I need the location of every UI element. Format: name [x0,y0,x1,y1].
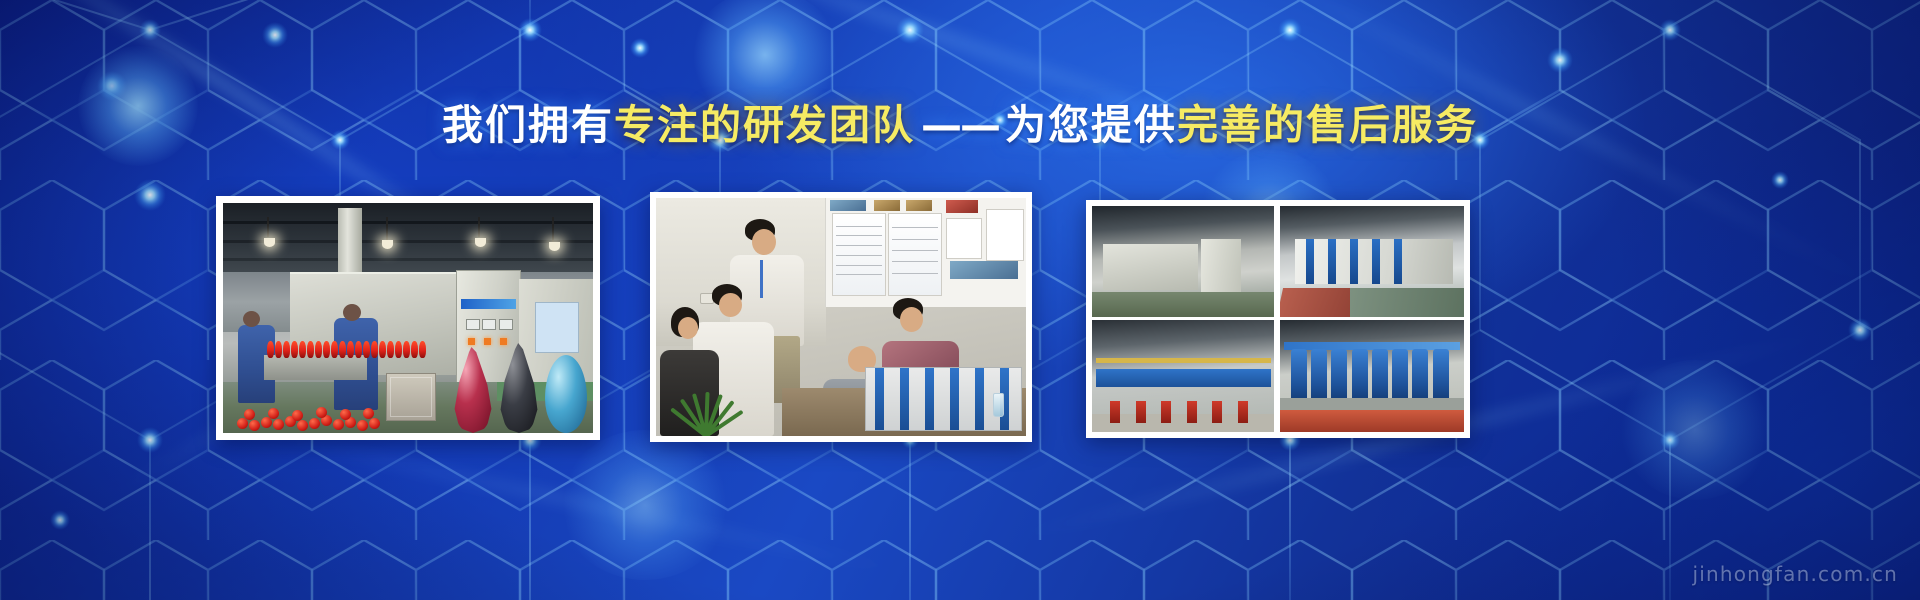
headline-segment-4: 完善的售后服务 [1177,101,1478,149]
collage-tile-drying-oven [1092,206,1274,317]
photo-team-meeting-image [656,198,1026,436]
promo-banner: 我们拥有专注的研发团队——为您提供完善的售后服务 [0,0,1920,600]
collage-tile-spray-booths [1280,206,1464,317]
photo-production-line-image [223,203,593,433]
page-title: 我们拥有专注的研发团队——为您提供完善的售后服务 [0,105,1920,146]
photo-equipment-collage[interactable] [1086,200,1470,438]
headline-segment-2: 专注的研发团队 [614,101,915,149]
photo-gallery [0,176,1920,420]
headline-segment-1: 我们拥有 [442,101,614,149]
collage-tile-plating-tanks [1280,320,1464,432]
vase-product-overlay [451,341,591,433]
photo-team-meeting[interactable] [650,192,1032,442]
photo-production-line[interactable] [216,196,600,440]
headline-segment-dash: —— [915,101,1005,149]
headline-segment-3: 为您提供 [1005,101,1177,149]
site-watermark: jinhongfan.com.cn [1692,562,1898,586]
photo-equipment-collage-image [1092,206,1464,432]
plant-decoration [660,365,749,436]
collage-tile-conveyor-line [1092,320,1274,432]
